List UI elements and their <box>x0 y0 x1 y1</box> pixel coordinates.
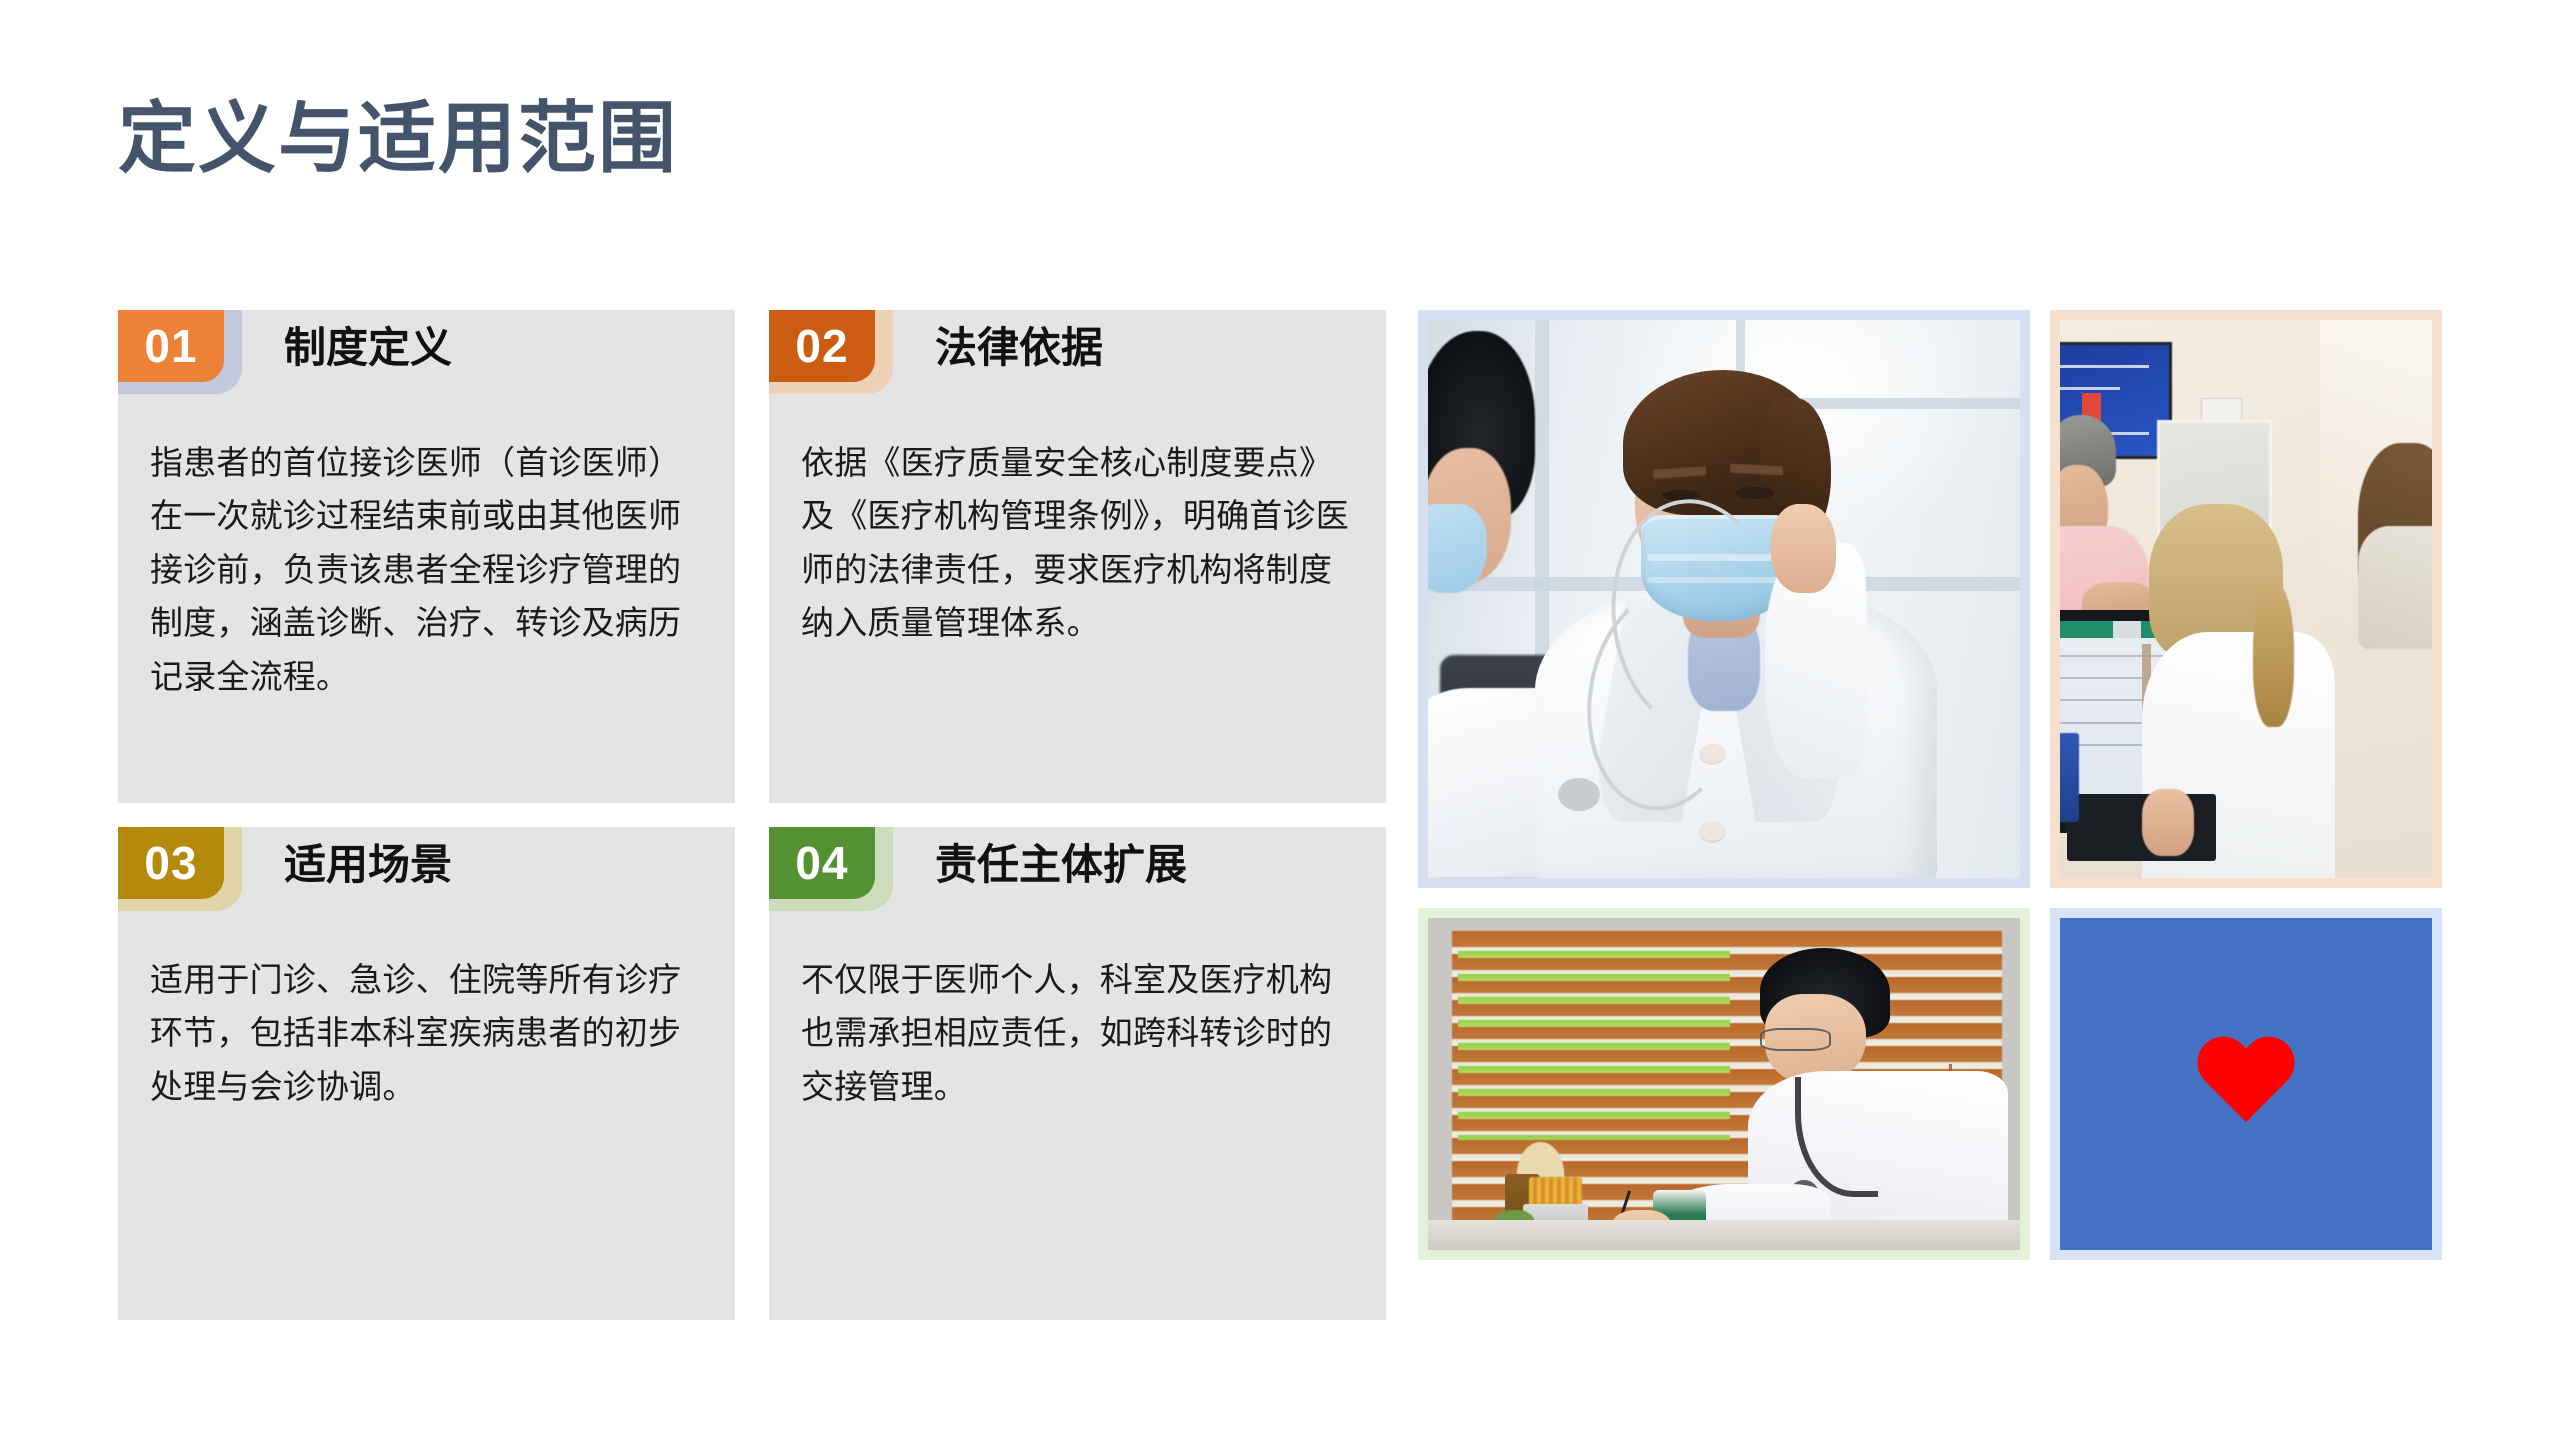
info-card-01[interactable]: 01 制度定义 指患者的首位接诊医师（首诊医师）在一次就诊过程结束前或由其他医师… <box>118 310 735 803</box>
badge-number-01: 01 <box>118 310 224 382</box>
info-card-grid: 01 制度定义 指患者的首位接诊医师（首诊医师）在一次就诊过程结束前或由其他医师… <box>118 310 1386 1320</box>
info-card-02[interactable]: 02 法律依据 依据《医疗质量安全核心制度要点》及《医疗机构管理条例》，明确首诊… <box>769 310 1386 803</box>
photo-heart-health-icon <box>2060 918 2432 1250</box>
badge-number-label: 04 <box>795 840 848 886</box>
info-card-body-04: 不仅限于医师个人，科室及医疗机构也需承担相应责任，如跨科转诊时的交接管理。 <box>801 953 1360 1113</box>
photo-collage <box>1418 310 2442 1320</box>
photo-clinic-consultation-computer <box>2060 320 2432 878</box>
badge-number-label: 02 <box>795 323 848 369</box>
badge-number-03: 03 <box>118 827 224 899</box>
badge-number-label: 01 <box>144 323 197 369</box>
badge-number-02: 02 <box>769 310 875 382</box>
photo-doctor-with-stethoscope <box>1428 320 2020 878</box>
heart-icon <box>2194 1038 2298 1130</box>
info-card-body-01: 指患者的首位接诊医师（首诊医师）在一次就诊过程结束前或由其他医师接诊前，负责该患… <box>150 436 709 703</box>
photo-frame-doctor-with-stethoscope <box>1418 310 2030 888</box>
badge-number-04: 04 <box>769 827 875 899</box>
info-card-04[interactable]: 04 责任主体扩展 不仅限于医师个人，科室及医疗机构也需承担相应责任，如跨科转诊… <box>769 827 1386 1320</box>
info-card-body-02: 依据《医疗质量安全核心制度要点》及《医疗机构管理条例》，明确首诊医师的法律责任，… <box>801 436 1360 650</box>
info-card-title-02: 法律依据 <box>935 324 1103 372</box>
info-card-title-01: 制度定义 <box>284 324 452 372</box>
info-card-title-04: 责任主体扩展 <box>935 841 1187 889</box>
photo-frame-clinic-consultation-computer <box>2050 310 2442 888</box>
info-card-title-03: 适用场景 <box>284 841 452 889</box>
info-card-body-03: 适用于门诊、急诊、住院等所有诊疗环节，包括非本科室疾病患者的初步处理与会诊协调。 <box>150 953 709 1113</box>
photo-frame-heart-health-icon <box>2050 908 2442 1260</box>
page-title: 定义与适用范围 <box>118 96 678 182</box>
photo-frame-doctor-writing-records <box>1418 908 2030 1260</box>
slide-root: 定义与适用范围 01 制度定义 指患者的首位接诊医师（首诊医师）在一次就诊过程结… <box>0 0 2560 1440</box>
info-card-03[interactable]: 03 适用场景 适用于门诊、急诊、住院等所有诊疗环节，包括非本科室疾病患者的初步… <box>118 827 735 1320</box>
badge-number-label: 03 <box>144 840 197 886</box>
photo-doctor-writing-records <box>1428 918 2020 1250</box>
